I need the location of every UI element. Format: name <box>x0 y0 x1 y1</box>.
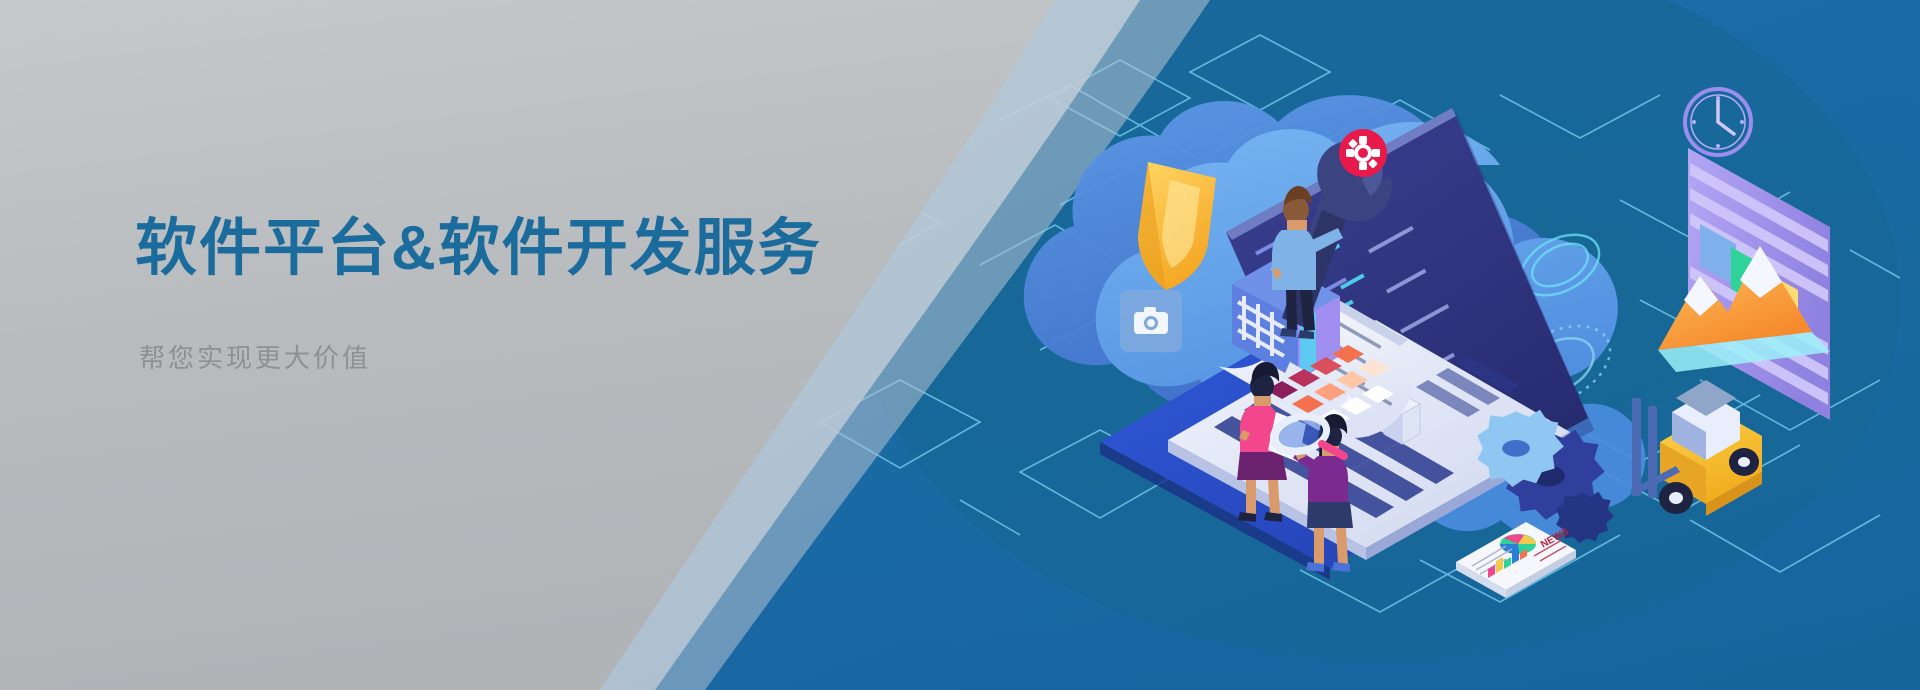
clock-icon <box>1685 89 1751 155</box>
hero-banner: NEWS <box>0 0 1920 690</box>
page-title: 软件平台&软件开发服务 <box>135 215 822 283</box>
forklift-vehicle <box>1630 380 1762 516</box>
camera-tile-icon <box>1120 290 1182 352</box>
gear-badge-icon <box>1339 129 1387 177</box>
page-subtitle: 帮您实现更大价值 <box>139 338 822 375</box>
news-card: NEWS <box>1456 522 1576 598</box>
hero-text-block: 软件平台&软件开发服务 帮您实现更大价值 <box>135 215 822 375</box>
